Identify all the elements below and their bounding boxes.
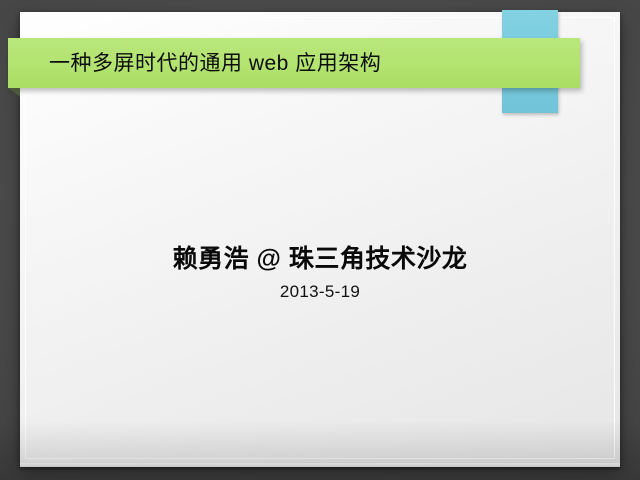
- banner-body: 一种多屏时代的通用 web 应用架构: [8, 38, 580, 88]
- event-date: 2013-5-19: [20, 282, 620, 302]
- presenter-name: 赖勇浩 @ 珠三角技术沙龙: [20, 244, 620, 275]
- slide-page: 一种多屏时代的通用 web 应用架构 赖勇浩 @ 珠三角技术沙龙 2013-5-…: [20, 12, 620, 464]
- banner-fold-triangle: [8, 88, 20, 97]
- slide-viewer-backdrop: 一种多屏时代的通用 web 应用架构 赖勇浩 @ 珠三角技术沙龙 2013-5-…: [0, 0, 640, 480]
- slide-title: 一种多屏时代的通用 web 应用架构: [49, 53, 381, 74]
- title-banner: 一种多屏时代的通用 web 应用架构: [8, 38, 580, 88]
- presenter-block: 赖勇浩 @ 珠三角技术沙龙 2013-5-19: [20, 244, 620, 303]
- slide-bottom-lip: [20, 463, 620, 467]
